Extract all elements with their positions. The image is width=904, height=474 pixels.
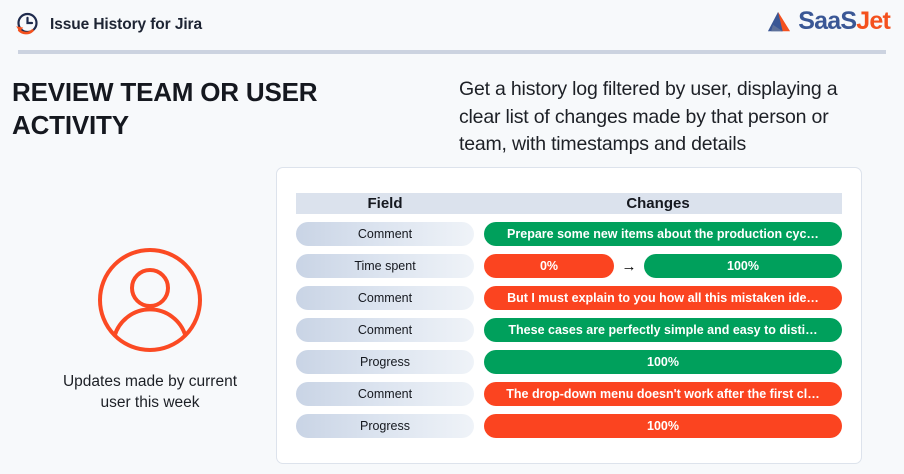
- history-clock-icon: [12, 10, 42, 40]
- user-avatar-icon: [94, 244, 206, 356]
- table-row[interactable]: Progress100%: [296, 350, 842, 374]
- changes-cell: These cases are perfectly simple and eas…: [484, 318, 842, 342]
- column-header-changes: Changes: [474, 195, 842, 212]
- change-pill: The drop-down menu doesn't work after th…: [484, 382, 842, 406]
- field-pill: Progress: [296, 350, 474, 374]
- table-row[interactable]: CommentBut I must explain to you how all…: [296, 286, 842, 310]
- change-pill-from: 0%: [484, 254, 614, 278]
- table-row[interactable]: CommentThese cases are perfectly simple …: [296, 318, 842, 342]
- field-pill: Comment: [296, 382, 474, 406]
- saasjet-logo[interactable]: SaaSJet: [765, 9, 890, 34]
- change-pill: 100%: [484, 414, 842, 438]
- change-pill: But I must explain to you how all this m…: [484, 286, 842, 310]
- change-pill: These cases are perfectly simple and eas…: [484, 318, 842, 342]
- avatar-caption: Updates made by current user this week: [50, 372, 250, 414]
- arrow-right-icon: →: [614, 259, 644, 274]
- field-pill: Progress: [296, 414, 474, 438]
- field-pill: Time spent: [296, 254, 474, 278]
- field-pill: Comment: [296, 222, 474, 246]
- changes-cell: The drop-down menu doesn't work after th…: [484, 382, 842, 406]
- app-header: Issue History for Jira SaaSJet: [0, 0, 904, 50]
- change-pill-to: 100%: [644, 254, 842, 278]
- logo-wordmark: SaaSJet: [798, 9, 890, 34]
- table-row[interactable]: CommentPrepare some new items about the …: [296, 222, 842, 246]
- logo-text-saas: SaaS: [798, 7, 856, 35]
- column-header-field: Field: [296, 195, 474, 212]
- table-row[interactable]: Progress100%: [296, 414, 842, 438]
- history-table-card: Field Changes CommentPrepare some new it…: [276, 167, 862, 464]
- history-table: Field Changes CommentPrepare some new it…: [296, 193, 842, 438]
- page-title: REVIEW TEAM OR USER ACTIVITY: [12, 76, 432, 143]
- table-row[interactable]: CommentThe drop-down menu doesn't work a…: [296, 382, 842, 406]
- field-pill: Comment: [296, 286, 474, 310]
- changes-cell: 100%: [484, 350, 842, 374]
- header-divider: [18, 50, 886, 54]
- changes-cell: Prepare some new items about the product…: [484, 222, 842, 246]
- saasjet-triangle-icon: [765, 10, 793, 34]
- brand: Issue History for Jira: [12, 10, 202, 40]
- avatar-block: Updates made by current user this week: [50, 244, 250, 414]
- logo-text-jet: Jet: [856, 7, 890, 35]
- product-title: Issue History for Jira: [50, 16, 202, 34]
- field-pill: Comment: [296, 318, 474, 342]
- changes-cell: But I must explain to you how all this m…: [484, 286, 842, 310]
- changes-cell: 100%: [484, 414, 842, 438]
- change-pill: 100%: [484, 350, 842, 374]
- table-header-row: Field Changes: [296, 193, 842, 214]
- page-subtitle: Get a history log filtered by user, disp…: [459, 76, 859, 159]
- table-body: CommentPrepare some new items about the …: [296, 222, 842, 438]
- table-row[interactable]: Time spent0%→100%: [296, 254, 842, 278]
- change-pill: Prepare some new items about the product…: [484, 222, 842, 246]
- changes-cell: 0%→100%: [484, 254, 842, 278]
